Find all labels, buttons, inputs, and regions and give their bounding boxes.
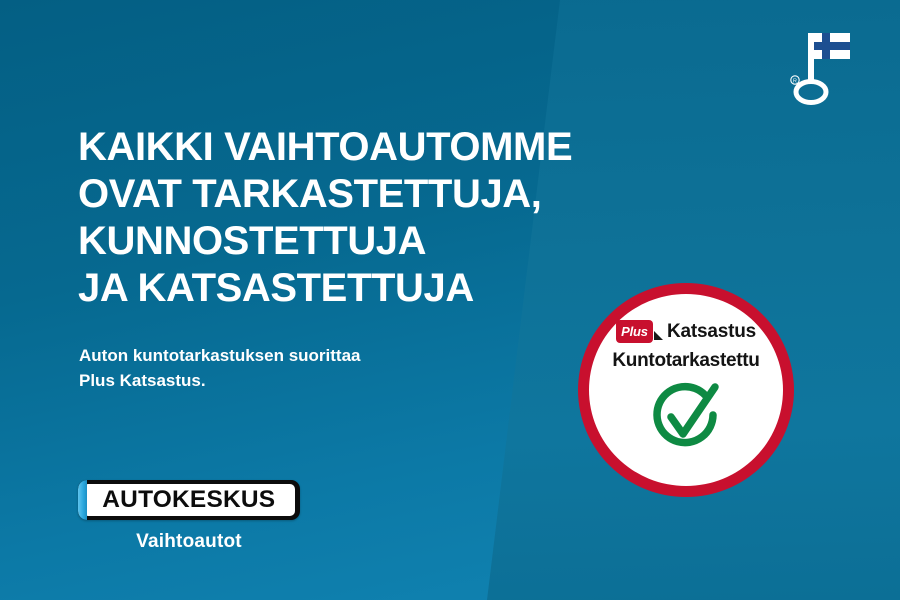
headline-line-4: JA KATSASTETTUJA: [78, 265, 678, 312]
avainlippu-key-flag-icon: R: [786, 28, 858, 108]
autokeskus-tagline: Vaihtoautot: [78, 531, 300, 553]
autokeskus-logo[interactable]: AUTOKESKUS Vaihtoautot: [78, 480, 318, 553]
plus-logo-label: Plus: [621, 325, 648, 338]
plus-logo-arrow-icon: [654, 331, 663, 340]
badge-status-label: Kuntotarkastettu: [612, 350, 759, 372]
plus-katsastus-logo: Plus Katsastus: [616, 320, 756, 343]
subtitle-line-1: Auton kuntotarkastuksen suorittaa: [79, 343, 509, 368]
subtitle-line-2: Plus Katsastus.: [79, 368, 509, 393]
subtitle: Auton kuntotarkastuksen suorittaa Plus K…: [79, 343, 509, 393]
autokeskus-wordmark: AUTOKESKUS: [103, 486, 276, 514]
plus-logo-box: Plus: [616, 320, 653, 343]
license-plate-shape: AUTOKESKUS: [78, 480, 300, 520]
kuntotarkastettu-badge: Plus Katsastus Kuntotarkastettu: [578, 283, 794, 497]
headline-line-1: KAIKKI VAIHTOAUTOMME: [78, 124, 678, 171]
eu-band: [78, 480, 87, 520]
green-check-icon: [643, 379, 729, 457]
headline: KAIKKI VAIHTOAUTOMME OVAT TARKASTETTUJA,…: [78, 124, 678, 312]
katsastus-wordmark: Katsastus: [667, 321, 756, 343]
headline-line-2: OVAT TARKASTETTUJA,: [78, 171, 678, 218]
headline-line-3: KUNNOSTETTUJA: [78, 218, 678, 265]
license-plate-face: AUTOKESKUS: [83, 484, 295, 516]
svg-text:R: R: [793, 79, 797, 85]
promo-banner: R KAIKKI VAIHTOAUTOMME OVAT TARKASTETTUJ…: [0, 0, 900, 600]
